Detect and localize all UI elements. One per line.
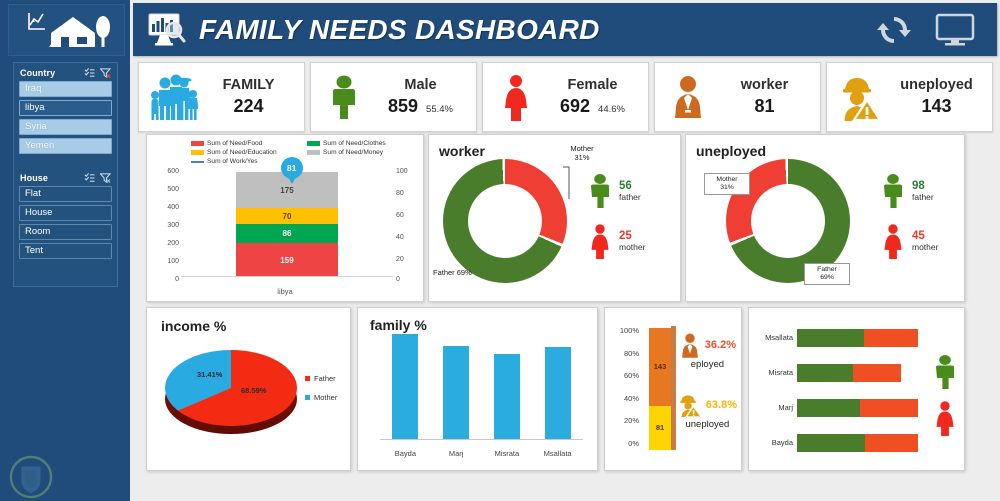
x-tick-label: Misrata: [482, 449, 532, 458]
stat-value: 45: [912, 230, 938, 242]
stat-mother: 45 mother: [880, 223, 938, 259]
kpi-label: Female: [568, 77, 618, 93]
gauge-bar[interactable]: 143 81: [649, 328, 671, 450]
x-tick-labels: Bayda Marj Misrata Msallata: [380, 449, 583, 458]
dashboard-logo-icon: [147, 12, 187, 48]
panel-title: worker: [439, 143, 485, 159]
bar-row-misrata[interactable]: Misrata: [755, 364, 918, 382]
legend-label: Sum of Work/Yes: [207, 158, 258, 165]
legend-swatch: [191, 150, 204, 155]
kpi-male[interactable]: Male 859 55.4%: [310, 62, 477, 132]
legend-label: Father: [314, 374, 336, 383]
plot-area: [380, 334, 583, 440]
segment-female[interactable]: [860, 399, 918, 417]
y-tick-right: 80: [396, 190, 418, 197]
y-tick-left: 600: [153, 168, 179, 175]
female-person-icon: [587, 223, 613, 259]
y-tick-right: 0: [396, 276, 418, 283]
y-tick-label: Bayda: [755, 438, 797, 447]
y-tick-left: 0: [153, 276, 179, 283]
donut-label-mother: Mother31%: [555, 145, 609, 162]
legend-line: [191, 161, 204, 163]
panel-title: income %: [161, 318, 226, 334]
callout-leader-line: [561, 165, 587, 201]
kpi-unemployed[interactable]: uneployed 143: [826, 62, 993, 132]
segment-male[interactable]: [797, 329, 864, 347]
kpi-female[interactable]: Female 692 44.6%: [482, 62, 649, 132]
y-tick: 60%: [611, 371, 639, 380]
brand-logo: [8, 4, 125, 56]
stat-employed: 36.2% eployed: [678, 332, 737, 370]
multi-select-icon[interactable]: [84, 173, 95, 183]
unemployed-donut-chart: uneployed Mother31% Father69% 98 father: [685, 134, 965, 302]
gauge-side-stats: 36.2% eployed: [678, 332, 737, 430]
stat-caption: mother: [619, 242, 645, 252]
pie-3d[interactable]: [165, 350, 297, 434]
refresh-icon[interactable]: [875, 12, 913, 48]
legend-item-father[interactable]: Father: [305, 374, 337, 383]
gauge-segment-employed[interactable]: 81: [649, 406, 671, 450]
stat-caption: father: [619, 192, 641, 202]
legend-item-clothes[interactable]: Sum of Need/Clothes: [307, 140, 423, 147]
female-person-icon: [932, 400, 958, 436]
stat-father: 98 father: [880, 173, 938, 209]
y-tick-right: 100: [396, 168, 418, 175]
income-pie-chart: income % 31.41% 68.59% Father Mother: [146, 307, 351, 471]
dashboard-root: Country Iraq liby: [0, 0, 1000, 501]
bar-misrata[interactable]: [494, 354, 520, 440]
slicer-panel: Country Iraq liby: [13, 62, 118, 287]
segment-male[interactable]: [797, 399, 860, 417]
pie-legend: Father Mother: [305, 374, 337, 412]
unemployed-warning-icon: [678, 392, 702, 418]
male-person-icon: [932, 354, 958, 390]
stat-caption: uneployed: [685, 419, 729, 430]
male-person-icon: [587, 173, 613, 209]
slicer-item-house[interactable]: House: [19, 205, 112, 221]
chart-legend: Sum of Need/Food Sum of Need/Clothes Sum…: [191, 140, 423, 167]
stat-value: 98: [912, 180, 934, 192]
kpi-value: 224: [233, 96, 263, 117]
gauge-3d-side: [671, 326, 676, 450]
slicer-item-yemen[interactable]: Yemen: [19, 138, 112, 154]
slicer-item-room[interactable]: Room: [19, 224, 112, 240]
y-tick-right: 40: [396, 234, 418, 241]
chart-legend: [932, 354, 958, 436]
segment-male[interactable]: [797, 364, 853, 382]
x-tick-label: Marj: [431, 449, 481, 458]
y-tick: 80%: [611, 349, 639, 358]
x-tick-label: Msallata: [533, 449, 583, 458]
panel-title: family %: [370, 317, 427, 333]
sidebar: Country Iraq liby: [0, 0, 130, 501]
kpi-label: worker: [741, 77, 789, 93]
panel-title: uneployed: [696, 143, 766, 159]
needs-stacked-chart: Sum of Need/Food Sum of Need/Clothes Sum…: [146, 134, 424, 302]
bar-row-msallata[interactable]: Msallata: [755, 329, 918, 347]
worker-donut-chart: worker Mother31% Father 69% 56 fath: [428, 134, 681, 302]
page-title: FAMILY NEEDS DASHBOARD: [199, 14, 600, 46]
y-tick-right: 60: [396, 212, 418, 219]
stat-percent: 36.2%: [705, 339, 736, 351]
legend-swatch: [307, 150, 320, 155]
slicer-item-syria[interactable]: Syria: [19, 119, 112, 135]
y-tick-label: Msallata: [755, 333, 797, 342]
city-gender-chart: Msallata Misrata Marj: [748, 307, 965, 471]
work-yes-callout: 81: [281, 157, 303, 179]
male-person-icon: [317, 73, 371, 121]
slicer-item-libya[interactable]: libya: [19, 100, 112, 116]
legend-swatch: [191, 141, 204, 146]
slicer-item-tent[interactable]: Tent: [19, 243, 112, 259]
segment-female[interactable]: [864, 329, 918, 347]
kpi-value: 143: [921, 96, 951, 117]
y-tick: 0%: [611, 439, 639, 448]
bar-segment-food[interactable]: 159: [236, 243, 338, 277]
y-tick: 40%: [611, 394, 639, 403]
monitor-icon[interactable]: [935, 13, 975, 47]
clear-filter-icon[interactable]: [100, 173, 111, 183]
y-tick: 100%: [611, 326, 639, 335]
legend-item-money[interactable]: Sum of Need/Money: [307, 149, 423, 156]
y-tick: 20%: [611, 416, 639, 425]
family-pct-chart: family % Bayda Marj Misrata Msallata: [357, 307, 598, 471]
donut-label-mother: Mother31%: [704, 173, 750, 195]
slicer-item-iraq[interactable]: Iraq: [19, 81, 112, 97]
slicer-title-house: House: [20, 173, 84, 183]
segment-female[interactable]: [853, 364, 901, 382]
y-tick-right: 20: [396, 256, 418, 263]
stat-caption: mother: [912, 242, 938, 252]
kpi-label: FAMILY: [223, 77, 275, 93]
slicer-header-country: Country: [14, 63, 117, 81]
slicer-title-country: Country: [20, 68, 84, 78]
legend-label: Mother: [314, 393, 337, 402]
female-person-icon: [489, 73, 543, 121]
family-group-icon: [145, 73, 199, 121]
legend-label: Sum of Need/Food: [207, 140, 262, 147]
multi-select-icon[interactable]: [84, 68, 95, 78]
legend-swatch: [305, 395, 310, 400]
legend-item-mother[interactable]: Mother: [305, 393, 337, 402]
pie-label-mother: 31.41%: [197, 370, 222, 379]
legend-item-food[interactable]: Sum of Need/Food: [191, 140, 307, 147]
segment-female[interactable]: [865, 434, 918, 452]
segment-male[interactable]: [797, 434, 865, 452]
legend-label: Sum of Need/Education: [207, 149, 277, 156]
clear-filter-icon[interactable]: [100, 68, 111, 78]
kpi-label: uneployed: [900, 77, 973, 93]
bar-segment-education[interactable]: 70: [236, 208, 338, 224]
x-tick-label: Bayda: [380, 449, 430, 458]
stat-value: 56: [619, 180, 641, 192]
legend-swatch: [305, 376, 310, 381]
bar-msallata[interactable]: [545, 347, 571, 440]
slicer-item-flat[interactable]: Flat: [19, 186, 112, 202]
app-header: FAMILY NEEDS DASHBOARD: [133, 3, 997, 56]
stat-caption: eployed: [691, 359, 724, 370]
slicer-list-house: Flat House Room Tent: [14, 186, 117, 259]
y-tick-left: 100: [153, 258, 179, 265]
kpi-worker[interactable]: worker 81: [654, 62, 821, 132]
gauge-segment-unemployed[interactable]: 143: [649, 328, 671, 406]
stat-caption: father: [912, 192, 934, 202]
kpi-value: 692: [560, 96, 590, 117]
stat-value: 25: [619, 230, 645, 242]
plot-area: 175 70 86 159 81: [181, 173, 393, 277]
y-tick-left: 300: [153, 222, 179, 229]
stat-percent: 63.8%: [706, 399, 737, 411]
unemployed-warning-icon: [833, 73, 887, 121]
x-axis-line: [380, 439, 583, 440]
y-axis-ticks: 100% 80% 60% 40% 20% 0%: [611, 326, 639, 448]
worker-person-icon: [679, 332, 701, 358]
kpi-percent: 55.4%: [426, 104, 453, 115]
kpi-row: FAMILY 224 Male 859 55.4%: [138, 62, 993, 132]
kpi-percent: 44.6%: [598, 104, 625, 115]
unemployed-side-stats: 98 father 45 mother: [880, 173, 938, 259]
bar-row-marj[interactable]: Marj: [755, 399, 918, 417]
slicer-list-country: Iraq libya Syria Yemen: [14, 81, 117, 154]
x-axis-line: [181, 276, 393, 277]
house-chart-icon: [21, 9, 113, 51]
watermark-logo: [2, 455, 60, 499]
bar-segment-clothes[interactable]: 86: [236, 224, 338, 243]
kpi-value: 81: [754, 96, 774, 117]
stat-father: 56 father: [587, 173, 645, 209]
x-tick-label: libya: [147, 287, 423, 296]
legend-label: Sum of Need/Clothes: [323, 140, 386, 147]
bar-row-bayda[interactable]: Bayda: [755, 434, 918, 452]
slicer-header-house: House: [14, 168, 117, 186]
worker-side-stats: 56 father 25 mother: [587, 173, 645, 259]
donut[interactable]: [443, 159, 567, 283]
bar-marj[interactable]: [443, 346, 469, 440]
bar-bayda[interactable]: [392, 334, 418, 440]
y-tick-left: 200: [153, 240, 179, 247]
y-tick-left: 400: [153, 204, 179, 211]
kpi-value: 859: [388, 96, 418, 117]
y-tick-left: 500: [153, 186, 179, 193]
male-person-icon: [880, 173, 906, 209]
donut-label-father: Father69%: [804, 263, 850, 285]
employment-gauge-chart: 100% 80% 60% 40% 20% 0% 143 81 36.2%: [604, 307, 742, 471]
y-tick-label: Marj: [755, 403, 797, 412]
y-tick-label: Misrata: [755, 368, 797, 377]
worker-person-icon: [661, 73, 715, 121]
kpi-label: Male: [404, 77, 436, 93]
stat-mother: 25 mother: [587, 223, 645, 259]
donut-label-father: Father 69%: [433, 269, 503, 278]
female-person-icon: [880, 223, 906, 259]
pie-label-father: 68.59%: [241, 386, 266, 395]
bar-rows: Msallata Misrata Marj: [755, 320, 918, 460]
kpi-family[interactable]: FAMILY 224: [138, 62, 305, 132]
legend-label: Sum of Need/Money: [323, 149, 383, 156]
stacked-bar[interactable]: 175 70 86 159: [236, 172, 338, 277]
legend-swatch: [307, 141, 320, 146]
stat-unemployed: 63.8% uneployed: [678, 392, 737, 430]
legend-item-education[interactable]: Sum of Need/Education: [191, 149, 307, 156]
